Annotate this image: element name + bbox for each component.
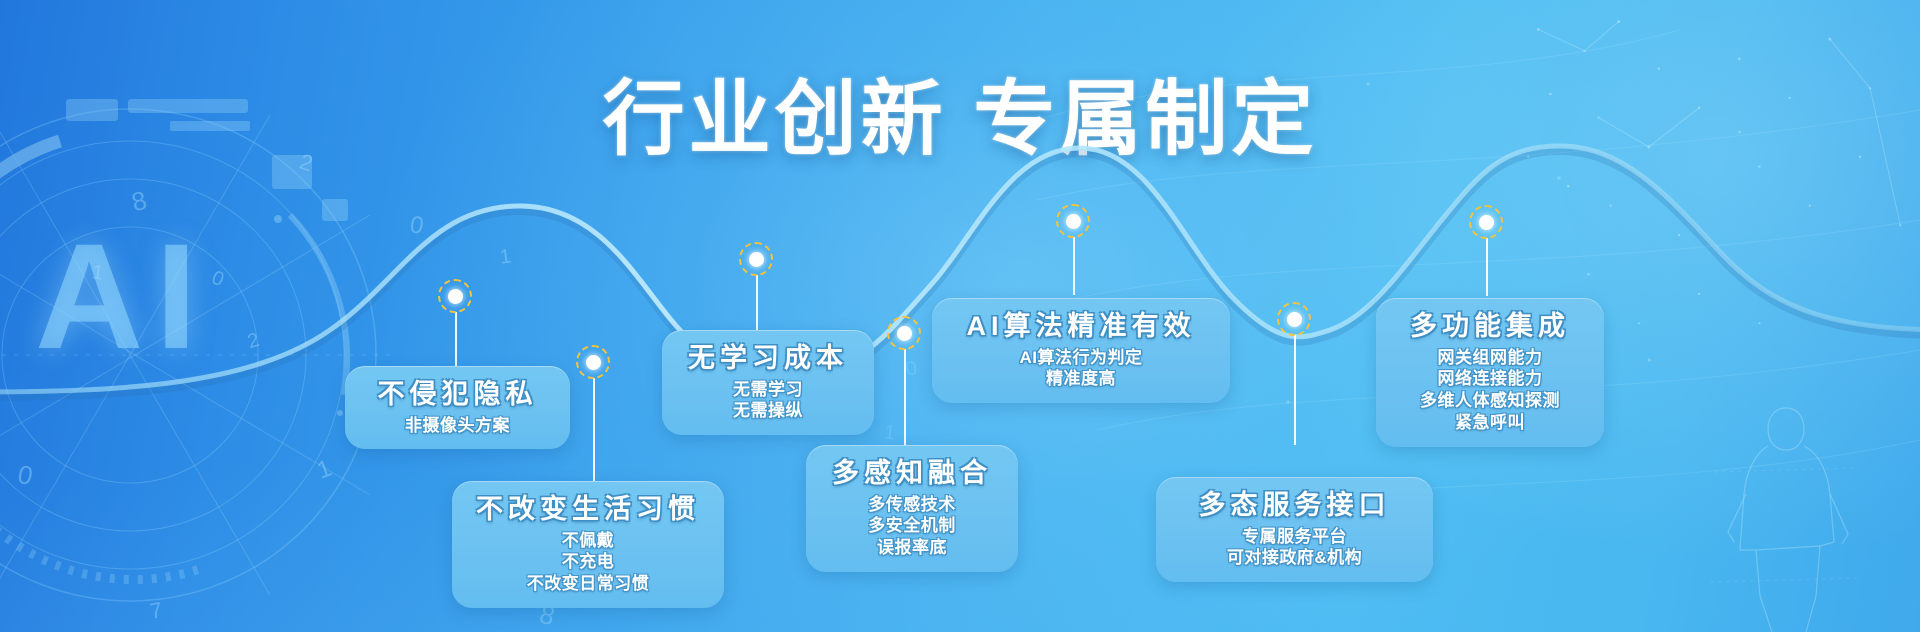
card-title: 多功能集成 — [1394, 309, 1586, 344]
card-service-interface[interactable]: 多态服务接口专属服务平台可对接政府&机构 — [1156, 477, 1433, 582]
card-detail-line: 无需学习 — [680, 379, 856, 401]
card-detail-line: 不改变日常习惯 — [470, 573, 706, 595]
card-title: 不改变生活习惯 — [470, 492, 706, 527]
card-title: 无学习成本 — [680, 341, 856, 376]
card-title: 多态服务接口 — [1174, 488, 1415, 523]
card-detail-list: 专属服务平台可对接政府&机构 — [1174, 526, 1415, 570]
card-detail-line: 精准度高 — [950, 368, 1212, 390]
card-detail-list: 无需学习无需操纵 — [680, 379, 856, 423]
card-privacy[interactable]: 不侵犯隐私非摄像头方案 — [345, 366, 570, 449]
card-detail-line: 不充电 — [470, 551, 706, 573]
card-detail-line: 紧急呼叫 — [1394, 412, 1586, 434]
card-detail-list: 网关组网能力网络连接能力多维人体感知探测紧急呼叫 — [1394, 347, 1586, 434]
card-detail-line: 专属服务平台 — [1174, 526, 1415, 548]
card-detail-line: 误报率底 — [824, 537, 1000, 559]
card-detail-line: AI算法行为判定 — [950, 347, 1212, 369]
card-detail-line: 无需操纵 — [680, 400, 856, 422]
card-lifestyle[interactable]: 不改变生活习惯不佩戴不充电不改变日常习惯 — [452, 481, 724, 608]
card-detail-line: 网关组网能力 — [1394, 347, 1586, 369]
card-ai-algorithm[interactable]: AI算法精准有效AI算法行为判定精准度高 — [932, 298, 1230, 403]
card-detail-line: 可对接政府&机构 — [1174, 547, 1415, 569]
card-detail-line: 多传感技术 — [824, 494, 1000, 516]
card-detail-list: AI算法行为判定精准度高 — [950, 347, 1212, 391]
card-detail-list: 不佩戴不充电不改变日常习惯 — [470, 530, 706, 595]
card-detail-line: 多安全机制 — [824, 515, 1000, 537]
card-detail-line: 网络连接能力 — [1394, 368, 1586, 390]
card-detail-line: 不佩戴 — [470, 530, 706, 552]
card-detail-line: 非摄像头方案 — [363, 415, 552, 437]
card-title: 多感知融合 — [824, 456, 1000, 491]
card-multifunction[interactable]: 多功能集成网关组网能力网络连接能力多维人体感知探测紧急呼叫 — [1376, 298, 1604, 447]
card-detail-line: 多维人体感知探测 — [1394, 390, 1586, 412]
card-multisense[interactable]: 多感知融合多传感技术多安全机制误报率底 — [806, 445, 1018, 572]
card-learning[interactable]: 无学习成本无需学习无需操纵 — [662, 330, 874, 435]
card-title: AI算法精准有效 — [950, 309, 1212, 344]
feature-cards-layer: 不侵犯隐私非摄像头方案不改变生活习惯不佩戴不充电不改变日常习惯无学习成本无需学习… — [0, 0, 1920, 632]
card-title: 不侵犯隐私 — [363, 377, 552, 412]
card-detail-list: 多传感技术多安全机制误报率底 — [824, 494, 1000, 559]
banner-canvas: AI 8 0 1 2 1 0 7 8 4 0 0 1 0 2 1 行业创新 专属… — [0, 0, 1920, 632]
card-detail-list: 非摄像头方案 — [363, 415, 552, 437]
